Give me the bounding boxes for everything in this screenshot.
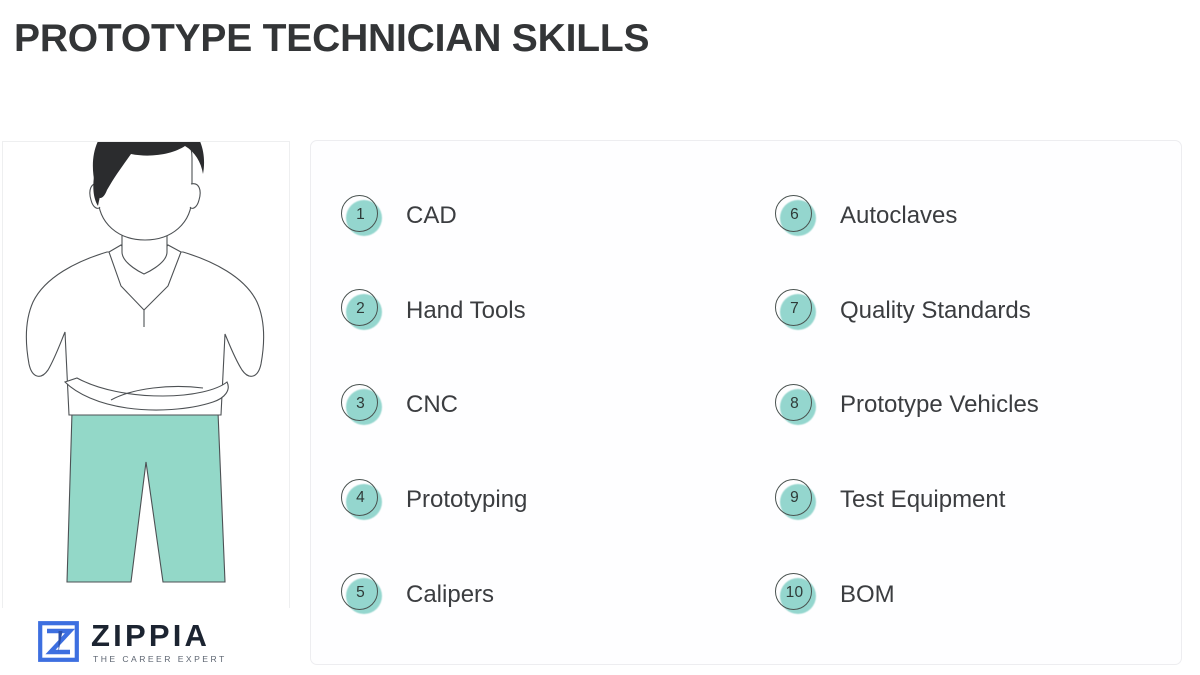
skill-number-badge: 2 — [341, 289, 384, 332]
skill-item[interactable]: 1 CAD — [311, 169, 743, 264]
skill-number-badge: 8 — [775, 384, 818, 427]
skill-number: 7 — [775, 289, 814, 328]
person-illustration-icon — [3, 141, 290, 612]
skill-number: 4 — [341, 479, 380, 518]
skill-label: Quality Standards — [840, 297, 1031, 325]
skill-number-badge: 6 — [775, 195, 818, 238]
skill-item[interactable]: 6 Autoclaves — [743, 169, 1181, 264]
skill-label: Prototype Vehicles — [840, 391, 1039, 419]
skill-number-badge: 5 — [341, 573, 384, 616]
skill-number: 6 — [775, 195, 814, 234]
skill-label: Prototyping — [406, 486, 527, 514]
skill-item[interactable]: 2 Hand Tools — [311, 264, 743, 359]
zippia-tagline: THE CAREER EXPERT — [91, 653, 227, 665]
skill-number-badge: 4 — [341, 479, 384, 522]
skill-label: Hand Tools — [406, 297, 526, 325]
skill-label: BOM — [840, 581, 895, 609]
skill-label: Autoclaves — [840, 202, 957, 230]
skill-item[interactable]: 3 CNC — [311, 358, 743, 453]
skill-item[interactable]: 9 Test Equipment — [743, 453, 1181, 548]
skill-number: 2 — [341, 289, 380, 328]
skill-number: 8 — [775, 384, 814, 423]
page-title: PROTOTYPE TECHNICIAN SKILLS — [14, 16, 649, 62]
zippia-z-mark-icon — [38, 621, 79, 662]
skill-item[interactable]: 8 Prototype Vehicles — [743, 358, 1181, 453]
skill-label: Calipers — [406, 581, 494, 609]
skill-label: CAD — [406, 202, 457, 230]
skill-number-badge: 9 — [775, 479, 818, 522]
skill-number-badge: 3 — [341, 384, 384, 427]
right-ear-shape — [190, 184, 200, 209]
skill-item[interactable]: 7 Quality Standards — [743, 264, 1181, 359]
zippia-logo[interactable]: ZIPPIA THE CAREER EXPERT — [0, 608, 292, 675]
skill-label: Test Equipment — [840, 486, 1005, 514]
skill-item[interactable]: 10 BOM — [743, 547, 1181, 642]
skills-card: 1 CAD 6 Autoclaves 2 Hand Tools — [310, 140, 1182, 665]
skills-grid: 1 CAD 6 Autoclaves 2 Hand Tools — [311, 141, 1181, 664]
zippia-wordmark: ZIPPIA — [91, 620, 227, 651]
skill-item[interactable]: 5 Calipers — [311, 547, 743, 642]
illustration-panel — [2, 141, 290, 675]
skill-number: 9 — [775, 479, 814, 518]
skill-number-badge: 10 — [775, 573, 818, 616]
skill-number: 3 — [341, 384, 380, 423]
skill-number: 10 — [775, 573, 814, 612]
skill-item[interactable]: 4 Prototyping — [311, 453, 743, 548]
skill-number: 1 — [341, 195, 380, 234]
skill-number-badge: 7 — [775, 289, 818, 332]
pants-shape — [67, 412, 225, 582]
skill-number: 5 — [341, 573, 380, 612]
skill-label: CNC — [406, 391, 458, 419]
skill-number-badge: 1 — [341, 195, 384, 238]
